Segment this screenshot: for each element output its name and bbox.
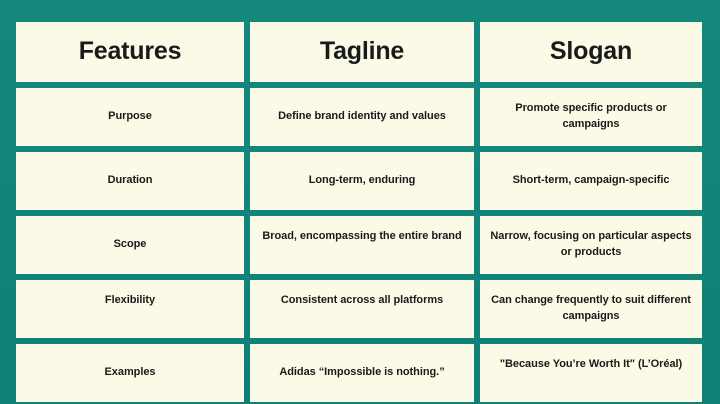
- cell-feature-flexibility: Flexibility: [26, 293, 234, 309]
- cell-tagline-flexibility: Consistent across all platforms: [260, 293, 464, 309]
- cell-feature-purpose: Purpose: [26, 109, 234, 125]
- table-row-feature-purpose: Purpose: [16, 88, 244, 146]
- cell-feature-examples: Examples: [26, 365, 234, 381]
- cell-slogan-scope: Narrow, focusing on particular aspects o…: [490, 229, 692, 261]
- cell-feature-scope: Scope: [26, 237, 234, 253]
- comparison-table-canvas: Features Tagline Slogan Purpose Define b…: [0, 0, 720, 404]
- header-label-tagline: Tagline: [260, 38, 464, 66]
- cell-slogan-duration: Short-term, campaign-specific: [490, 173, 692, 189]
- table-row-feature-scope: Scope: [16, 216, 244, 274]
- table-row-feature-duration: Duration: [16, 152, 244, 210]
- table-row-slogan-purpose: Promote specific products or campaigns: [480, 88, 702, 146]
- header-label-features: Features: [26, 38, 234, 66]
- table-row-tagline-scope: Broad, encompassing the entire brand: [250, 216, 474, 274]
- cell-tagline-examples: Adidas “Impossible is nothing.”: [260, 365, 464, 381]
- table-row-tagline-duration: Long-term, enduring: [250, 152, 474, 210]
- cell-tagline-scope: Broad, encompassing the entire brand: [260, 229, 464, 245]
- cell-tagline-purpose: Define brand identity and values: [260, 109, 464, 125]
- table-row-slogan-examples: "Because You’re Worth It" (L’Oréal): [480, 344, 702, 402]
- table-row-feature-examples: Examples: [16, 344, 244, 402]
- table-row-tagline-examples: Adidas “Impossible is nothing.”: [250, 344, 474, 402]
- table-header-cell-slogan: Slogan: [480, 22, 702, 82]
- cell-slogan-flexibility: Can change frequently to suit different …: [490, 293, 692, 325]
- table-header-cell-tagline: Tagline: [250, 22, 474, 82]
- cell-tagline-duration: Long-term, enduring: [260, 173, 464, 189]
- table-row-slogan-duration: Short-term, campaign-specific: [480, 152, 702, 210]
- table-row-slogan-flexibility: Can change frequently to suit different …: [480, 280, 702, 338]
- cell-feature-duration: Duration: [26, 173, 234, 189]
- header-label-slogan: Slogan: [490, 38, 692, 66]
- table-row-tagline-purpose: Define brand identity and values: [250, 88, 474, 146]
- table-row-tagline-flexibility: Consistent across all platforms: [250, 280, 474, 338]
- table-row-slogan-scope: Narrow, focusing on particular aspects o…: [480, 216, 702, 274]
- table-row-feature-flexibility: Flexibility: [16, 280, 244, 338]
- cell-slogan-examples: "Because You’re Worth It" (L’Oréal): [490, 357, 692, 373]
- comparison-table: Features Tagline Slogan Purpose Define b…: [16, 22, 704, 402]
- table-header-cell-features: Features: [16, 22, 244, 82]
- cell-slogan-purpose: Promote specific products or campaigns: [490, 101, 692, 133]
